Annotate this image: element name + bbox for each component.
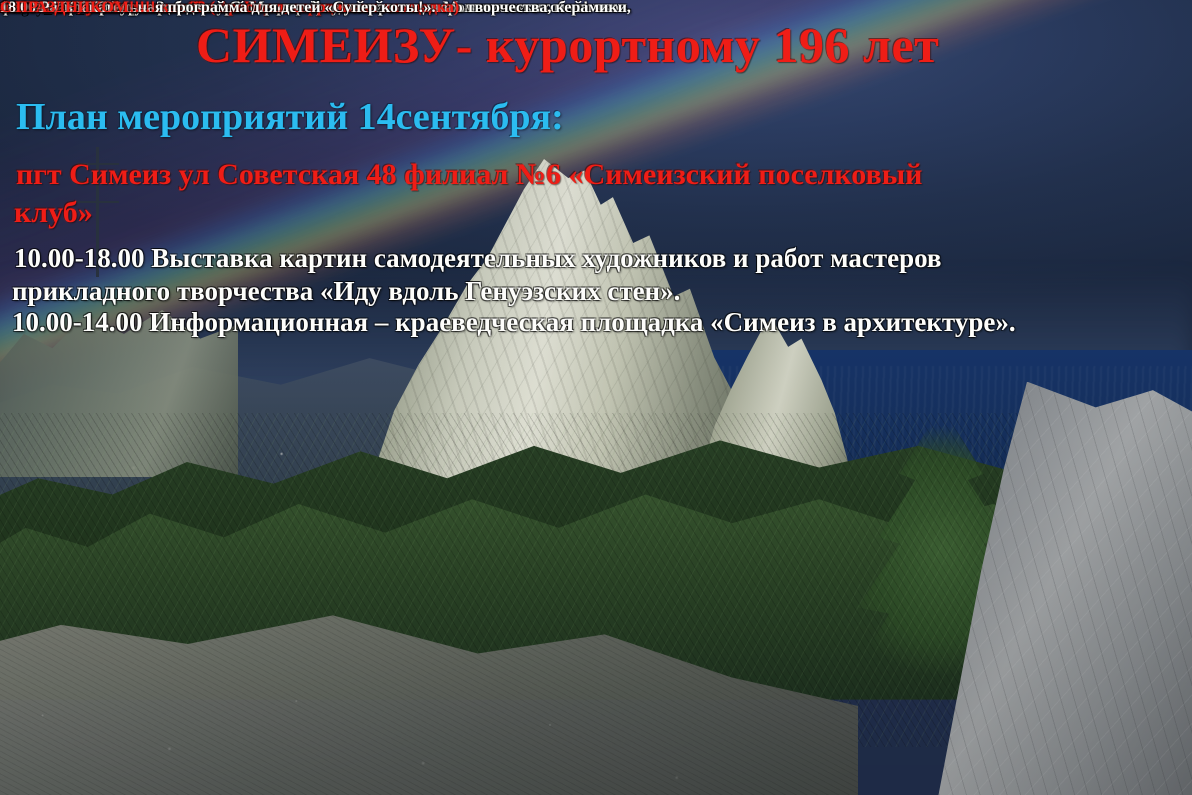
- event-item-1-line-1: 10.00-18.00 Выставка картин самодеятельн…: [14, 245, 942, 272]
- event-item-2: 10.00-14.00 Информационная – краеведческ…: [12, 309, 1016, 336]
- poster-text-layer: СИМЕИЗУ- курортному 196 лет План меропри…: [0, 0, 1192, 795]
- poster-title: СИМЕИЗУ- курортному 196 лет: [196, 20, 939, 70]
- poster-subtitle: План мероприятий 14сентября:: [16, 98, 564, 136]
- closing-greeting: С ПРАЗДНИКОМ!!!!!: [0, 0, 156, 16]
- event-poster: СИМЕИЗУ- курортному 196 лет План меропри…: [0, 0, 1192, 795]
- event-item-1-line-2: прикладного творчества «Иду вдоль Генуэз…: [12, 278, 680, 305]
- venue-1-heading-line-1: пгт Симеиз ул Советская 48 филиал №6 «Си…: [16, 160, 922, 190]
- venue-1-heading-line-2: клуб»: [14, 198, 93, 228]
